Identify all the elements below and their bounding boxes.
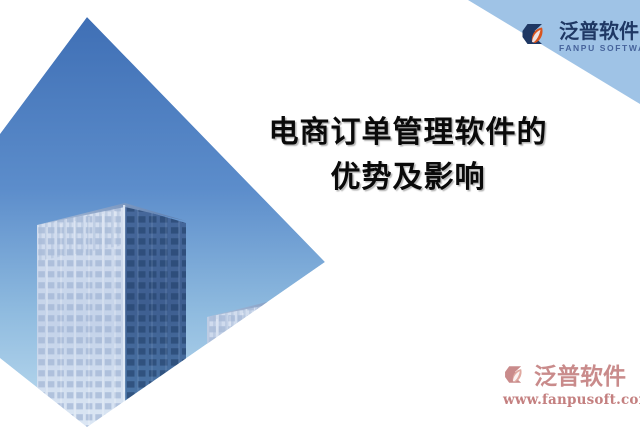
watermark-url: www.fanpusoft.com xyxy=(503,392,640,408)
watermark-logo-row: 泛普软件 xyxy=(503,363,640,391)
tower-right xyxy=(207,297,325,427)
brand-name-cn: 泛普软件 xyxy=(559,21,640,41)
brand-wordmark: 泛普软件 FANPU SOFTWARE xyxy=(559,21,640,53)
brand-name-en: FANPU SOFTWARE xyxy=(559,44,640,53)
fanpu-watermark-mark xyxy=(503,363,531,391)
title-line-2: 优势及影响 xyxy=(238,157,578,200)
blue-diamond-artwork xyxy=(0,17,325,427)
tower-left xyxy=(37,203,186,427)
brand-logo[interactable]: 泛普软件 FANPU SOFTWARE xyxy=(520,20,640,54)
slide-title: 电商订单管理软件的 优势及影响 xyxy=(238,112,578,199)
footer-watermark: 泛普软件 www.fanpusoft.com xyxy=(503,363,640,408)
fanpu-logo-mark xyxy=(520,20,554,54)
watermark-name-cn: 泛普软件 xyxy=(534,366,626,389)
title-line-1: 电商订单管理软件的 xyxy=(238,112,578,155)
presentation-slide: 泛普软件 FANPU SOFTWARE 电商订单管理软件的 优势及影响 泛普软件… xyxy=(0,0,640,427)
